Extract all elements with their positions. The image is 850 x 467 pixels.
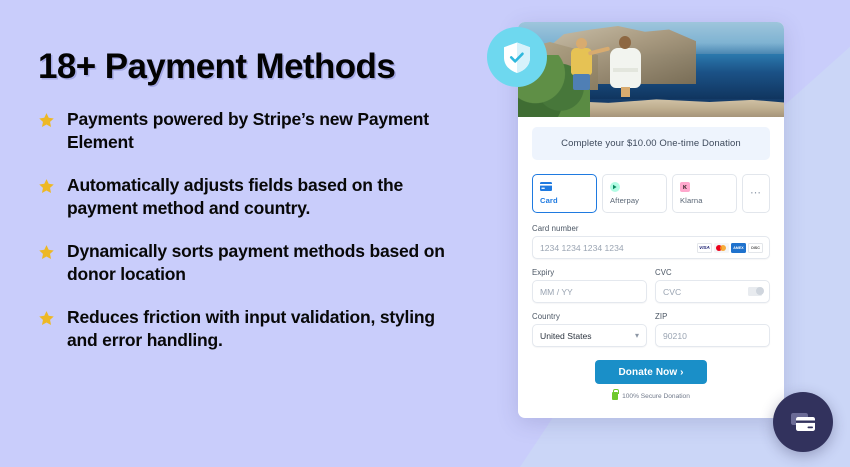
- more-payment-methods-button[interactable]: ⋯: [742, 174, 770, 213]
- zip-input[interactable]: 90210: [655, 324, 770, 347]
- discover-icon: DISC: [748, 243, 763, 253]
- list-item-label: Automatically adjusts fields based on th…: [67, 174, 468, 220]
- secure-donation-note: 100% Secure Donation: [532, 392, 770, 400]
- more-dots-icon: ⋯: [750, 191, 762, 195]
- star-icon: [38, 310, 55, 327]
- expiry-input[interactable]: MM / YY: [532, 280, 647, 303]
- chevron-down-icon: ▾: [635, 331, 639, 340]
- star-icon: [38, 244, 55, 261]
- cvc-placeholder: CVC: [663, 287, 681, 297]
- card-number-placeholder: 1234 1234 1234 1234: [540, 243, 624, 253]
- expiry-placeholder: MM / YY: [540, 287, 573, 297]
- donate-now-button[interactable]: Donate Now ›: [595, 360, 707, 384]
- list-item-label: Dynamically sorts payment methods based …: [67, 240, 468, 286]
- donation-form-body: Complete your $10.00 One-time Donation C…: [518, 117, 784, 400]
- cards-stack-icon[interactable]: [773, 392, 833, 452]
- secure-donation-label: 100% Secure Donation: [622, 393, 690, 400]
- boy-head: [576, 38, 587, 49]
- mastercard-icon: [714, 243, 729, 253]
- girl-legs: [621, 87, 630, 97]
- padlock-icon: [612, 392, 618, 400]
- amex-icon: AMEX: [731, 243, 746, 253]
- tab-afterpay[interactable]: Afterpay: [602, 174, 667, 213]
- card-number-label: Card number: [532, 224, 770, 233]
- afterpay-icon: [610, 181, 659, 192]
- slide-canvas: 18+ Payment Methods Payments powered by …: [0, 0, 850, 467]
- photo-children-seaside: [518, 22, 784, 117]
- list-item: Automatically adjusts fields based on th…: [38, 174, 468, 220]
- tab-afterpay-label: Afterpay: [610, 196, 659, 205]
- card-brand-icons: VISA AMEX DISC: [697, 243, 763, 253]
- tab-klarna-label: Klarna: [680, 196, 729, 205]
- country-zip-row: Country United States ▾ ZIP 90210: [532, 312, 770, 356]
- expiry-cvc-row: Expiry MM / YY CVC CVC: [532, 268, 770, 312]
- donation-form-panel: Complete your $10.00 One-time Donation C…: [518, 22, 784, 418]
- country-label: Country: [532, 312, 647, 321]
- feature-bullet-list: Payments powered by Stripe’s new Payment…: [38, 108, 468, 353]
- cvc-card-icon: [748, 287, 762, 296]
- cvc-input[interactable]: CVC: [655, 280, 770, 303]
- credit-card-icon: [540, 181, 589, 192]
- tab-klarna[interactable]: K Klarna: [672, 174, 737, 213]
- country-value: United States: [540, 331, 592, 341]
- tab-card[interactable]: Card: [532, 174, 597, 213]
- girl-head: [619, 36, 631, 49]
- expiry-label: Expiry: [532, 268, 647, 277]
- visa-icon: VISA: [697, 243, 712, 253]
- list-item-label: Reduces friction with input validation, …: [67, 306, 468, 352]
- shield-check-icon: [487, 27, 547, 87]
- list-item: Dynamically sorts payment methods based …: [38, 240, 468, 286]
- list-item-label: Payments powered by Stripe’s new Payment…: [67, 108, 468, 154]
- page-title: 18+ Payment Methods: [38, 48, 468, 86]
- klarna-icon: K: [680, 181, 729, 192]
- svg-text:K: K: [683, 185, 687, 191]
- zip-label: ZIP: [655, 312, 770, 321]
- zip-placeholder: 90210: [663, 331, 687, 341]
- amount-summary-banner: Complete your $10.00 One-time Donation: [532, 127, 770, 160]
- girl-belt: [613, 68, 638, 72]
- star-icon: [38, 112, 55, 129]
- payment-method-tabs: Card Afterpay K Klarna ⋯: [532, 174, 770, 213]
- star-icon: [38, 178, 55, 195]
- country-select[interactable]: United States ▾: [532, 324, 647, 347]
- card-number-input[interactable]: 1234 1234 1234 1234 VISA AMEX DISC: [532, 236, 770, 259]
- boy-legs: [573, 74, 590, 90]
- list-item: Payments powered by Stripe’s new Payment…: [38, 108, 468, 154]
- list-item: Reduces friction with input validation, …: [38, 306, 468, 352]
- cvc-label: CVC: [655, 268, 770, 277]
- left-content-column: 18+ Payment Methods Payments powered by …: [38, 48, 468, 373]
- tab-card-label: Card: [540, 196, 589, 205]
